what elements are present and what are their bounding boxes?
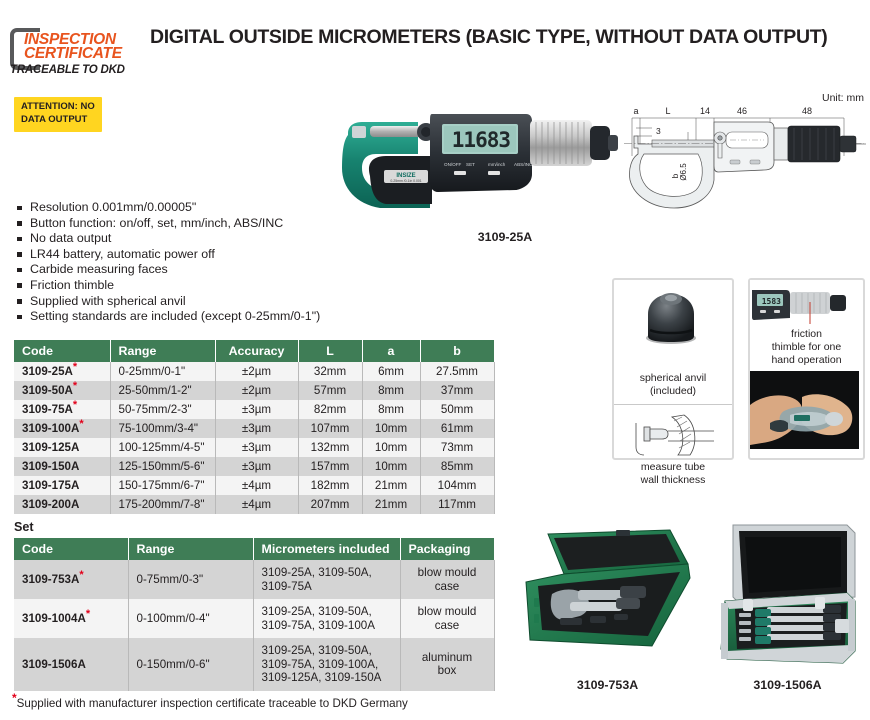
cell-code: 3109-100A*	[14, 419, 110, 438]
column-header-b: b	[420, 340, 494, 362]
cell-range: 0-100mm/0-4"	[128, 599, 253, 638]
table-row: 3109-75A*50-75mm/2-3"±3µm82mm8mm50mm	[14, 400, 494, 419]
set-table: CodeRangeMicrometers includedPackaging 3…	[14, 538, 494, 691]
cell-a: 21mm	[362, 495, 420, 514]
feature-item: Setting standards are included (except 0…	[16, 309, 346, 325]
column-header-range: Range	[110, 340, 215, 362]
dim-L: L	[665, 106, 670, 116]
set-table-row: 3109-1004A*0-100mm/0-4"3109-25A, 3109-50…	[14, 599, 494, 638]
anvil-caption-line-1: spherical anvil	[614, 372, 732, 385]
cell-a: 10mm	[362, 438, 420, 457]
case-photo-3109-1506A	[715, 523, 860, 668]
specification-table: CodeRangeAccuracyLab 3109-25A*0-25mm/0-1…	[14, 340, 494, 514]
dim-dia65: Ø6.5	[679, 163, 688, 181]
inset-left-top-caption: spherical anvil (included)	[614, 372, 732, 398]
feature-item: Button function: on/off, set, mm/inch, A…	[16, 216, 346, 232]
case-left-caption: 3109-753A	[520, 678, 695, 692]
set-column-header: Micrometers included	[253, 538, 400, 560]
cell-range: 150-175mm/6-7"	[110, 476, 215, 495]
dim-14: 14	[700, 106, 710, 116]
table-row: 3109-125A100-125mm/4-5"±3µm132mm10mm73mm	[14, 438, 494, 457]
product-photo-micrometer: INSIZE 0-25mm /0-1in 0.001 11683 ON/OFF …	[340, 100, 620, 230]
svg-text:SET: SET	[466, 162, 475, 167]
column-header-l: L	[298, 340, 362, 362]
cell-range: 25-50mm/1-2"	[110, 381, 215, 400]
dim-a: a	[633, 106, 638, 116]
cell-range: 75-100mm/3-4"	[110, 419, 215, 438]
svg-text:mm/inch: mm/inch	[488, 162, 506, 167]
cell-range: 0-150mm/0-6"	[128, 638, 253, 691]
cell-code: 3109-1506A	[14, 638, 128, 691]
table-row: 3109-50A*25-50mm/1-2"±2µm57mm8mm37mm	[14, 381, 494, 400]
set-table-row: 3109-1506A0-150mm/0-6"3109-25A, 3109-50A…	[14, 638, 494, 691]
cell-code: 3109-50A*	[14, 381, 110, 400]
ratchet-cap	[590, 126, 610, 160]
hand-operation-photo	[750, 371, 859, 449]
cell-code: 3109-75A*	[14, 400, 110, 419]
cell-L: 182mm	[298, 476, 362, 495]
svg-text:11683: 11683	[452, 128, 511, 152]
cell-L: 132mm	[298, 438, 362, 457]
cell-accuracy: ±2µm	[215, 362, 298, 381]
cell-L: 207mm	[298, 495, 362, 514]
product-photo-caption: 3109-25A	[440, 230, 570, 244]
cell-b: 50mm	[420, 400, 494, 419]
svg-text:0-25mm /0-1in 0.001: 0-25mm /0-1in 0.001	[390, 179, 421, 183]
case-photo-3109-753A	[520, 528, 695, 668]
column-header-code: Code	[14, 340, 110, 362]
feature-item: Resolution 0.001mm/0.00005"	[16, 200, 346, 216]
attention-badge-line-1: ATTENTION: NO	[21, 101, 95, 114]
cell-a: 8mm	[362, 381, 420, 400]
cell-micrometers-included: 3109-25A, 3109-50A, 3109-75A	[253, 560, 400, 599]
set-table-body: 3109-753A*0-75mm/0-3"3109-25A, 3109-50A,…	[14, 560, 494, 691]
set-section-label: Set	[14, 520, 34, 534]
cell-b: 104mm	[420, 476, 494, 495]
cell-range: 125-150mm/5-6"	[110, 457, 215, 476]
cell-a: 21mm	[362, 476, 420, 495]
cell-packaging: aluminum box	[400, 638, 494, 691]
thimble-caption-line-3: hand operation	[750, 354, 863, 367]
feature-item: Friction thimble	[16, 278, 346, 294]
inset-panel-left: spherical anvil (included) measure tube …	[612, 278, 734, 460]
thimble-caption-line-1: friction	[750, 328, 863, 341]
cell-code: 3109-175A	[14, 476, 110, 495]
logo-line-2: CERTIFICATE	[24, 46, 122, 62]
cell-b: 117mm	[420, 495, 494, 514]
cell-accuracy: ±3µm	[215, 400, 298, 419]
certificate-star: *	[79, 418, 83, 430]
cell-accuracy: ±2µm	[215, 381, 298, 400]
dim-48: 48	[802, 106, 812, 116]
cell-a: 6mm	[362, 362, 420, 381]
cell-packaging: blow mould case	[400, 560, 494, 599]
thimble	[530, 120, 592, 166]
cell-a: 10mm	[362, 419, 420, 438]
cell-a: 8mm	[362, 400, 420, 419]
cell-micrometers-included: 3109-25A, 3109-50A, 3109-75A, 3109-100A	[253, 599, 400, 638]
cell-L: 32mm	[298, 362, 362, 381]
attention-badge-line-2: DATA OUTPUT	[21, 114, 95, 127]
dim-b: b	[671, 173, 680, 178]
cell-range: 100-125mm/4-5"	[110, 438, 215, 457]
cell-code: 3109-1004A*	[14, 599, 128, 638]
svg-text:ON/OFF: ON/OFF	[444, 162, 462, 167]
cell-code: 3109-200A	[14, 495, 110, 514]
cell-range: 50-75mm/2-3"	[110, 400, 215, 419]
thimble-caption-line-2: thimble for one	[750, 341, 863, 354]
inset-panel-right: 1583 friction thimble for one hand opera…	[748, 278, 865, 460]
table-row: 3109-200A175-200mm/7-8"±4µm207mm21mm117m…	[14, 495, 494, 514]
cell-code: 3109-125A	[14, 438, 110, 457]
cell-accuracy: ±3µm	[215, 438, 298, 457]
technical-drawing: a L 14 46 48 3 Ø6.5 b	[618, 92, 868, 212]
attention-badge: ATTENTION: NO DATA OUTPUT	[14, 97, 102, 132]
footnote-text: Supplied with manufacturer inspection ce…	[17, 697, 408, 710]
certificate-star: *	[79, 569, 83, 581]
cell-packaging: blow mould case	[400, 599, 494, 638]
feature-item: LR44 battery, automatic power off	[16, 247, 346, 263]
certificate-star: *	[73, 399, 77, 411]
column-header-accuracy: Accuracy	[215, 340, 298, 362]
table-row: 3109-25A*0-25mm/0-1"±2µm32mm6mm27.5mm	[14, 362, 494, 381]
cell-range: 175-200mm/7-8"	[110, 495, 215, 514]
feature-item: No data output	[16, 231, 346, 247]
cell-b: 61mm	[420, 419, 494, 438]
dim-46: 46	[737, 106, 747, 116]
cell-L: 57mm	[298, 381, 362, 400]
certificate-star: *	[73, 361, 77, 373]
dim-3: 3	[656, 126, 661, 136]
table-row: 3109-100A*75-100mm/3-4"±3µm107mm10mm61mm	[14, 419, 494, 438]
cell-b: 73mm	[420, 438, 494, 457]
feature-item: Supplied with spherical anvil	[16, 294, 346, 310]
column-header-a: a	[362, 340, 420, 362]
inset-left-bottom-caption: measure tube wall thickness	[614, 461, 732, 487]
cell-accuracy: ±4µm	[215, 476, 298, 495]
anvil-caption-line-2: (included)	[614, 385, 732, 398]
feature-item: Carbide measuring faces	[16, 262, 346, 278]
table-row: 3109-150A125-150mm/5-6"±3µm157mm10mm85mm	[14, 457, 494, 476]
table-row: 3109-175A150-175mm/6-7"±4µm182mm21mm104m…	[14, 476, 494, 495]
cell-code: 3109-150A	[14, 457, 110, 476]
svg-text:1583: 1583	[762, 297, 781, 306]
cell-L: 157mm	[298, 457, 362, 476]
set-table-row: 3109-753A*0-75mm/0-3"3109-25A, 3109-50A,…	[14, 560, 494, 599]
cell-range: 0-25mm/0-1"	[110, 362, 215, 381]
cell-b: 85mm	[420, 457, 494, 476]
spec-table-body: 3109-25A*0-25mm/0-1"±2µm32mm6mm27.5mm310…	[14, 362, 494, 514]
cell-code: 3109-25A*	[14, 362, 110, 381]
cell-b: 27.5mm	[420, 362, 494, 381]
cell-micrometers-included: 3109-25A, 3109-50A, 3109-75A, 3109-100A,…	[253, 638, 400, 691]
inset-right-caption: friction thimble for one hand operation	[750, 326, 863, 367]
cell-L: 82mm	[298, 400, 362, 419]
certificate-star: *	[73, 380, 77, 392]
cell-b: 37mm	[420, 381, 494, 400]
cell-accuracy: ±3µm	[215, 457, 298, 476]
page-title: DIGITAL OUTSIDE MICROMETERS (BASIC TYPE,…	[150, 26, 865, 48]
set-table-header-row: CodeRangeMicrometers includedPackaging	[14, 538, 494, 560]
svg-text:ABS/INC: ABS/INC	[514, 162, 533, 167]
footnote: *Supplied with manufacturer inspection c…	[12, 697, 408, 710]
certificate-star: *	[86, 608, 90, 620]
set-column-header: Code	[14, 538, 128, 560]
case-right-caption: 3109-1506A	[715, 678, 860, 692]
cell-code: 3109-753A*	[14, 560, 128, 599]
table-header-row: CodeRangeAccuracyLab	[14, 340, 494, 362]
cell-accuracy: ±3µm	[215, 419, 298, 438]
set-column-header: Range	[128, 538, 253, 560]
tube-caption-line-1: measure tube	[614, 461, 732, 474]
logo-line-3: TRACEABLE TO DKD	[10, 64, 125, 76]
inspection-certificate-logo: INSPECTION CERTIFICATE TRACEABLE TO DKD	[10, 28, 142, 76]
tube-caption-line-2: wall thickness	[614, 474, 732, 487]
cell-accuracy: ±4µm	[215, 495, 298, 514]
cell-range: 0-75mm/0-3"	[128, 560, 253, 599]
cell-a: 10mm	[362, 457, 420, 476]
inset-divider	[614, 404, 732, 405]
set-column-header: Packaging	[400, 538, 494, 560]
feature-list: Resolution 0.001mm/0.00005"Button functi…	[16, 200, 346, 325]
cell-L: 107mm	[298, 419, 362, 438]
